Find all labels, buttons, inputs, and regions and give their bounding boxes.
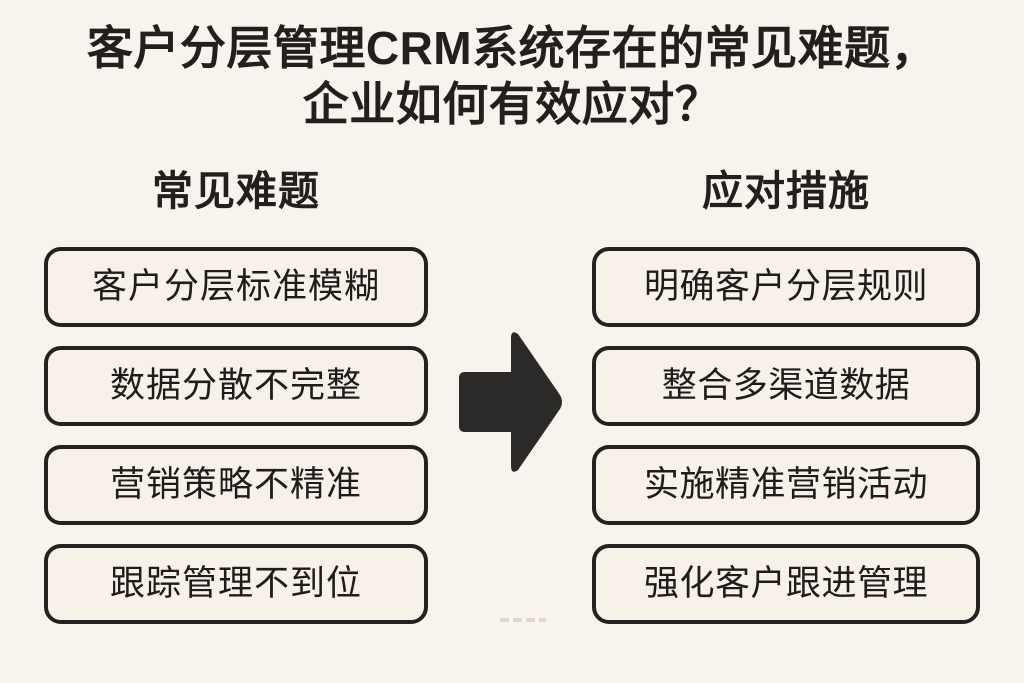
solution-item-label: 强化客户跟进管理 [644, 564, 928, 604]
problem-item-label: 客户分层标准模糊 [92, 267, 380, 307]
problem-item: 营销策略不精准 [44, 445, 428, 525]
problem-item: 跟踪管理不到位 [44, 544, 428, 624]
infographic-canvas: 客户分层管理CRM系统存在的常见难题， 企业如何有效应对？ 常见难题 应对措施 … [0, 0, 1024, 683]
solution-item: 实施精准营销活动 [592, 445, 980, 525]
problem-item: 客户分层标准模糊 [44, 247, 428, 327]
title-line-2: 企业如何有效应对？ [0, 76, 1024, 132]
solution-item-label: 实施精准营销活动 [644, 465, 928, 505]
problem-item: 数据分散不完整 [44, 346, 428, 426]
title-line-1: 客户分层管理CRM系统存在的常见难题， [0, 20, 1024, 76]
solution-item: 明确客户分层规则 [592, 247, 980, 327]
problem-item-label: 跟踪管理不到位 [110, 564, 362, 604]
solution-item: 强化客户跟进管理 [592, 544, 980, 624]
solution-item-label: 明确客户分层规则 [644, 267, 928, 307]
solution-item: 整合多渠道数据 [592, 346, 980, 426]
problem-item-label: 营销策略不精准 [110, 465, 362, 505]
problem-item-label: 数据分散不完整 [110, 366, 362, 406]
solution-item-label: 整合多渠道数据 [662, 366, 911, 406]
arrow-right-icon [456, 329, 564, 475]
page-title: 客户分层管理CRM系统存在的常见难题， 企业如何有效应对？ [0, 20, 1024, 132]
problems-column: 客户分层标准模糊 数据分散不完整 营销策略不精准 跟踪管理不到位 [44, 247, 428, 624]
solutions-column: 明确客户分层规则 整合多渠道数据 实施精准营销活动 强化客户跟进管理 [592, 247, 980, 624]
problems-column-heading: 常见难题 [44, 167, 428, 215]
solutions-column-heading: 应对措施 [592, 167, 980, 215]
faint-dash-artifact [500, 618, 546, 622]
